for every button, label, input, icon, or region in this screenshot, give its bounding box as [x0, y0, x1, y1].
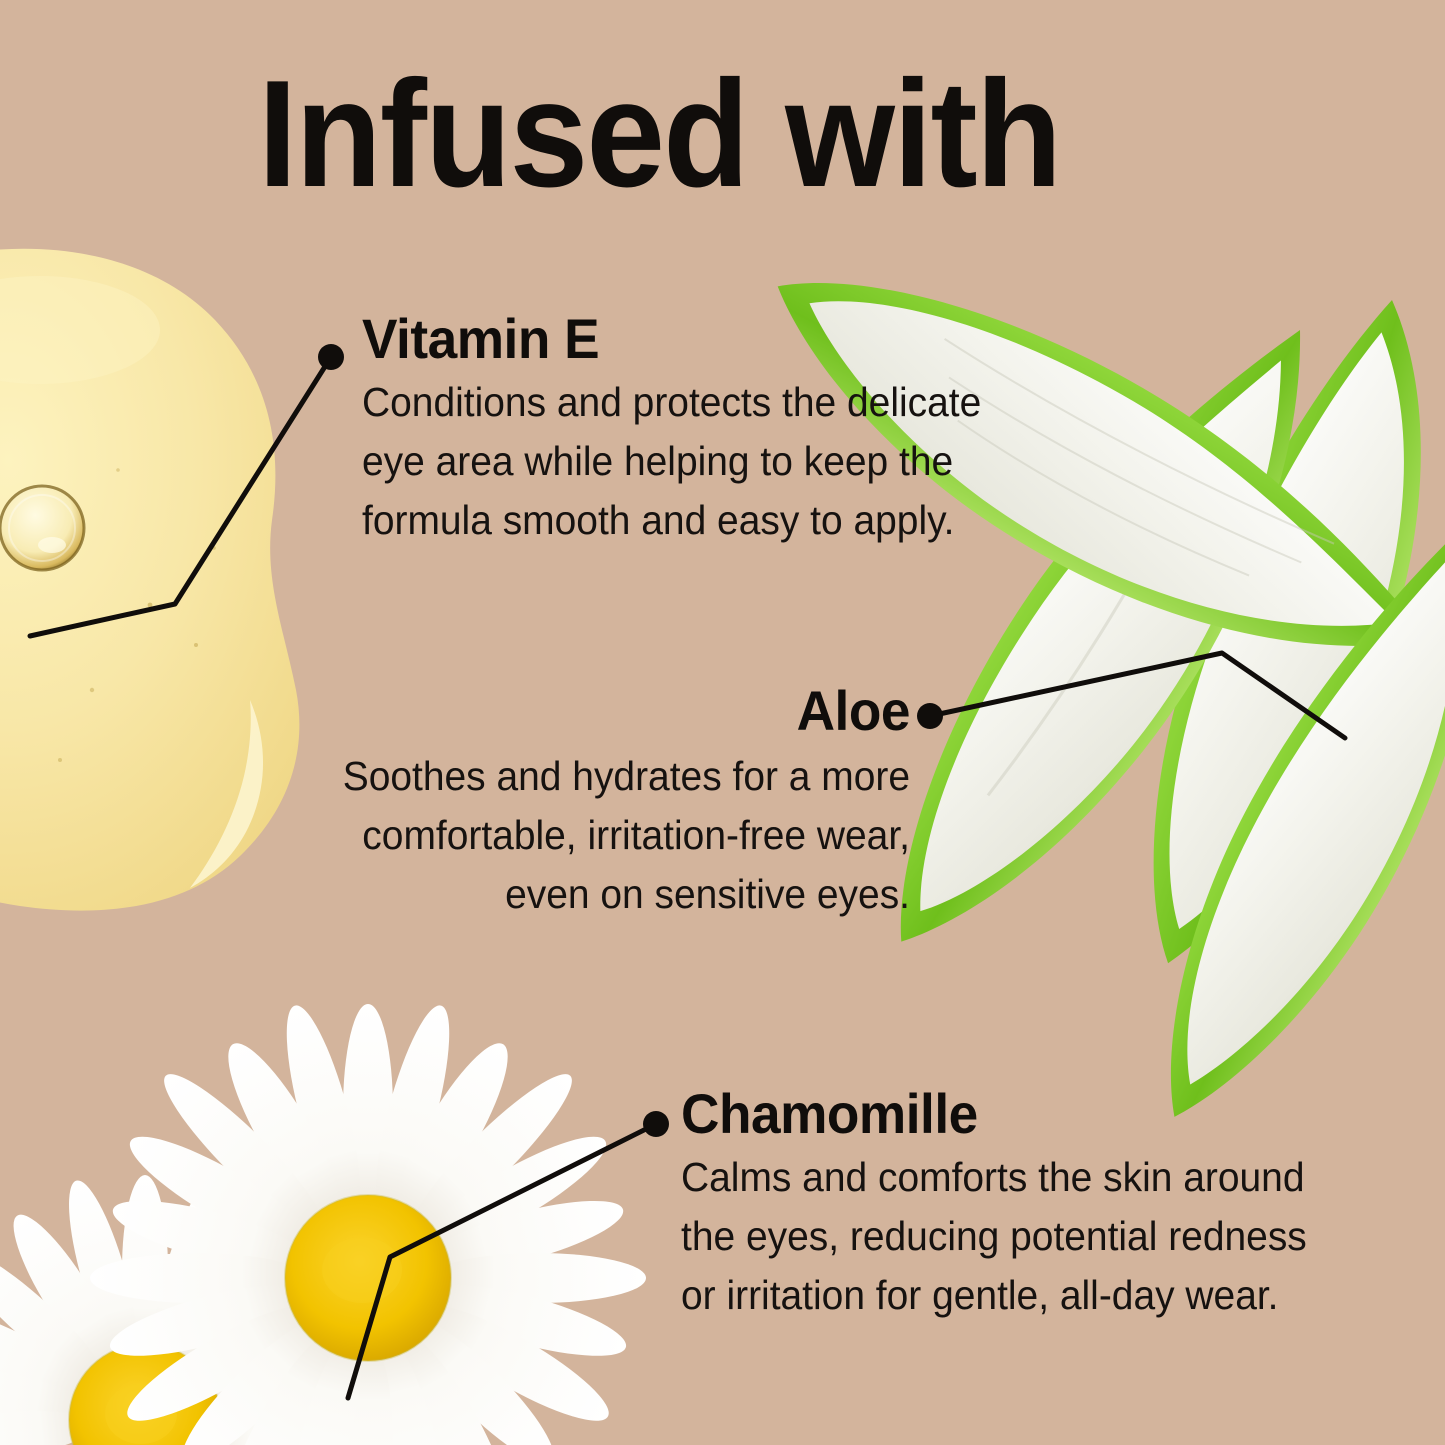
- page-title: Infused with: [258, 58, 1060, 210]
- leader-line-vitamin-e: [30, 357, 331, 636]
- oil-droplet: [0, 486, 84, 570]
- ingredient-name-vitamin-e: Vitamin E: [362, 310, 1008, 367]
- leader-line-chamomille: [348, 1124, 656, 1398]
- ingredient-chamomille: Chamomille Calms and comforts the skin a…: [681, 1085, 1341, 1325]
- bullet-dot-vitamin-e: [318, 344, 344, 370]
- ingredient-name-aloe: Aloe: [302, 682, 910, 739]
- ingredient-description-vitamin-e: Conditions and protects the delicate eye…: [362, 373, 1008, 550]
- oil-blob-group: [0, 249, 299, 911]
- chamomile-flower-secondary: [0, 1175, 383, 1445]
- ingredient-description-aloe: Soothes and hydrates for a more comforta…: [302, 747, 910, 924]
- leader-line-aloe: [930, 653, 1345, 738]
- chamomile-flowers-group: [0, 999, 646, 1445]
- ingredient-vitamin-e: Vitamin E Conditions and protects the de…: [362, 310, 1042, 550]
- infographic-canvas: Infused with Vitamin E Conditions and pr…: [0, 0, 1445, 1445]
- ingredient-name-chamomille: Chamomille: [681, 1085, 1308, 1142]
- ingredient-aloe: Aloe Soothes and hydrates for a more com…: [270, 682, 910, 924]
- chamomile-flower-primary: [90, 999, 646, 1445]
- bullet-dot-aloe: [917, 703, 943, 729]
- ingredient-description-chamomille: Calms and comforts the skin around the e…: [681, 1148, 1308, 1325]
- bullet-dot-chamomille: [643, 1111, 669, 1137]
